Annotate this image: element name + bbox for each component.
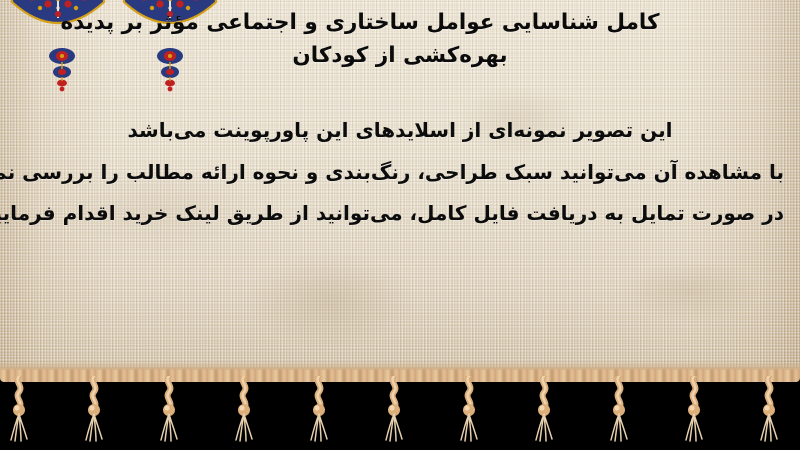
carpet-tassel: [533, 376, 555, 442]
slide-title-line-2: بهره‌کشی از کودکان: [28, 39, 772, 72]
carpet-tassel: [683, 376, 705, 442]
slide-body-text: این تصویر نمونه‌ای از اسلایدهای این پاور…: [0, 110, 800, 235]
slide-body-line-1: این تصویر نمونه‌ای از اسلایدهای این پاور…: [16, 110, 784, 152]
carpet-tassel: [758, 376, 780, 442]
presentation-slide: کامل شناسایی عوامل ساختاری و اجتماعی مؤث…: [0, 0, 800, 450]
carpet-tassel: [308, 376, 330, 442]
slide-title: کامل شناسایی عوامل ساختاری و اجتماعی مؤث…: [0, 6, 800, 72]
slide-body-line-3: در صورت تمایل به دریافت فایل کامل، می‌تو…: [16, 193, 784, 235]
carpet-tassel: [383, 376, 405, 442]
carpet-tassel: [83, 376, 105, 442]
carpet-tassel: [158, 376, 180, 442]
slide-title-line-1: کامل شناسایی عوامل ساختاری و اجتماعی مؤث…: [28, 6, 772, 39]
carpet-tassel: [608, 376, 630, 442]
carpet-fringe-band: [0, 368, 800, 450]
carpet-tassel: [233, 376, 255, 442]
slide-body-line-2: با مشاهده آن می‌توانید سبک طراحی، رنگ‌بن…: [16, 152, 784, 194]
slide-text-layer: کامل شناسایی عوامل ساختاری و اجتماعی مؤث…: [0, 0, 800, 378]
carpet-tassel: [8, 376, 30, 442]
carpet-tassel: [458, 376, 480, 442]
